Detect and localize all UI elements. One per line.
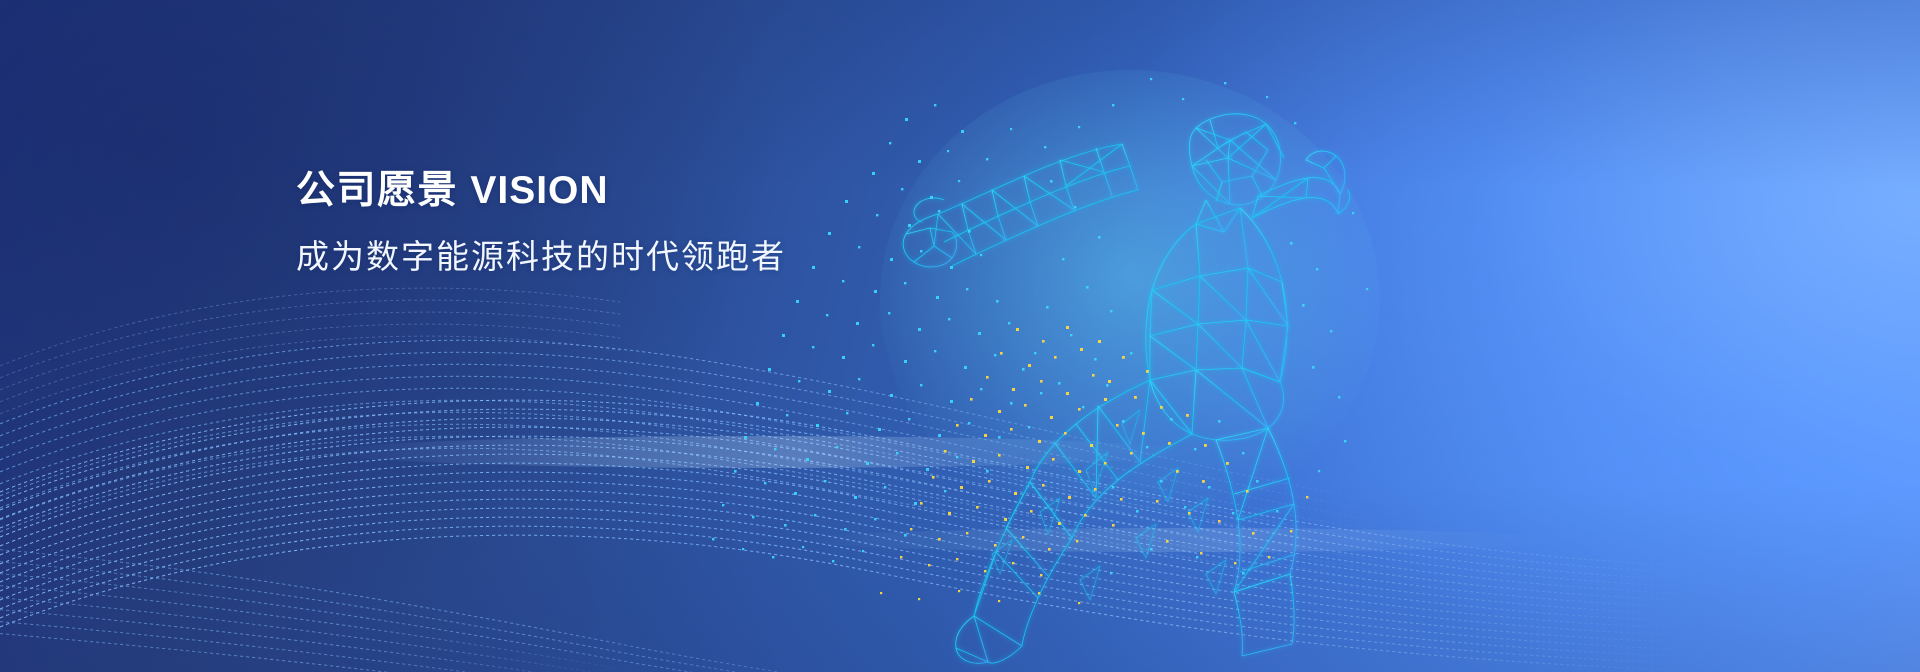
headline-en: VISION: [470, 169, 608, 212]
headline-cn: 公司愿景: [296, 169, 458, 212]
banner-subtitle: 成为数字能源科技的时代领跑者: [296, 236, 786, 279]
wireframe-runner-graphic: [0, 0, 1920, 672]
banner-text-block: 公司愿景 VISION 成为数字能源科技的时代领跑者: [296, 168, 786, 279]
vision-banner: 公司愿景 VISION 成为数字能源科技的时代领跑者: [0, 0, 1920, 672]
page-title: 公司愿景 VISION: [296, 168, 786, 214]
